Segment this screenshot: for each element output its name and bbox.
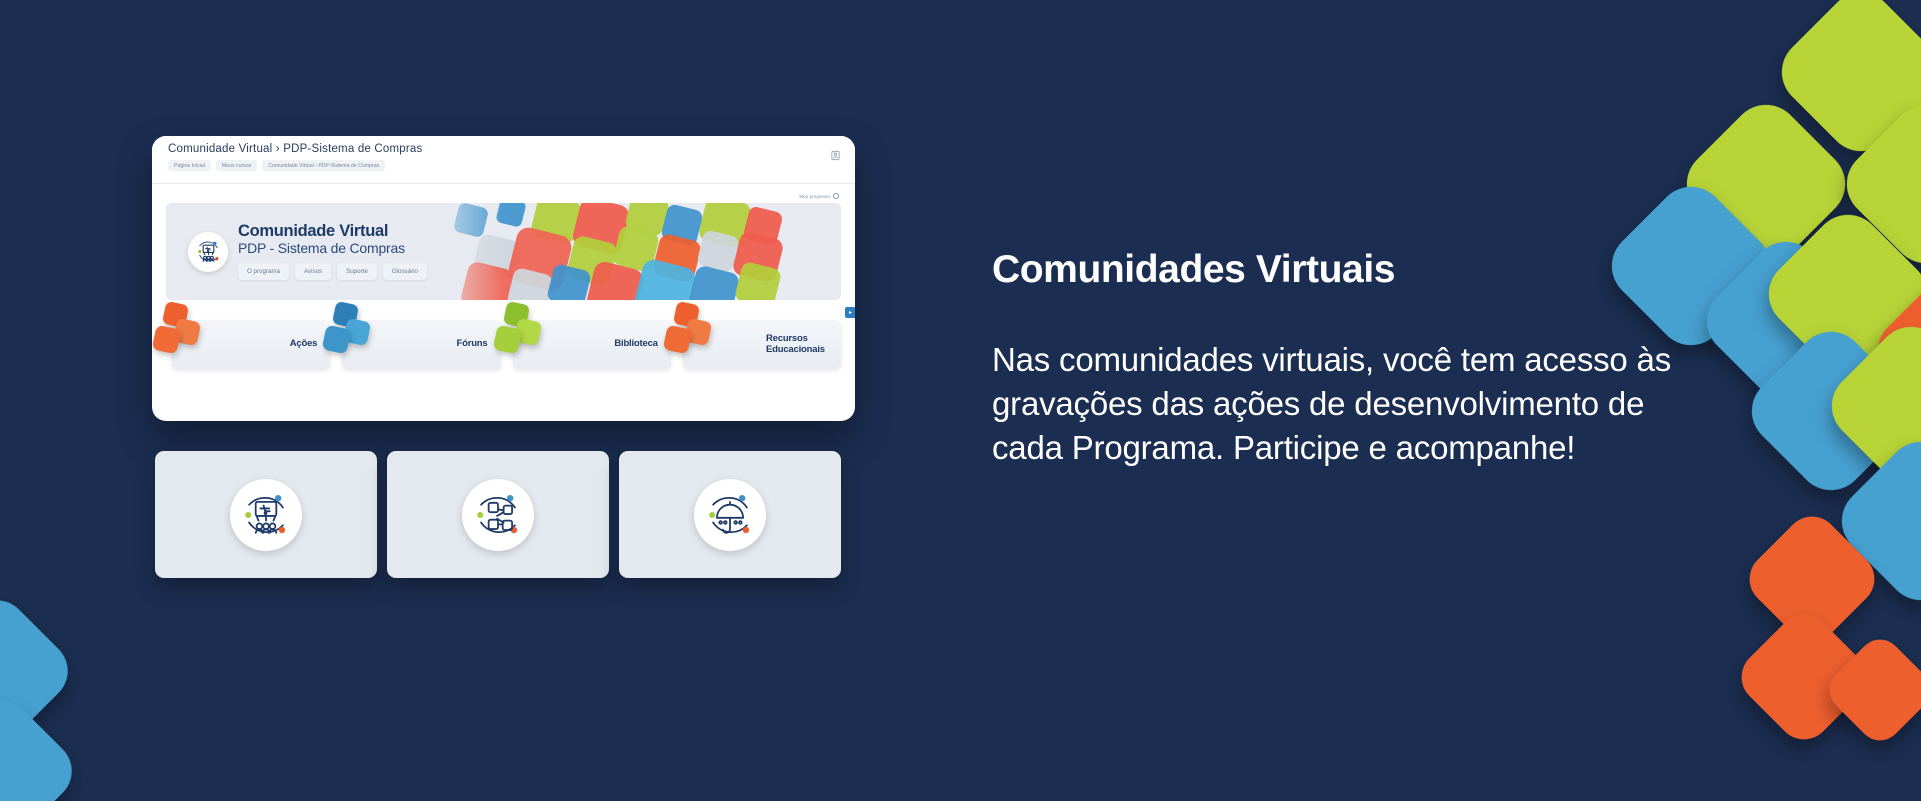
puzzle-orange-icon <box>664 303 718 365</box>
nav-card-biblioteca[interactable]: Biblioteca <box>513 320 671 369</box>
nav-card-label: Fóruns <box>457 339 488 349</box>
user-account-icon[interactable] <box>830 150 841 161</box>
nav-card-label: Ações <box>290 339 318 349</box>
community-cart-people-icon <box>188 232 228 272</box>
breadcrumb: Página Inicial Meus cursos Comunidade Vi… <box>168 160 839 171</box>
breadcrumb-item[interactable]: Página Inicial <box>168 160 211 171</box>
browser-content: Meu progresso <box>152 184 855 421</box>
deco-square-blue-left <box>0 588 80 755</box>
deco-square-orange <box>1738 505 1885 652</box>
puzzle-orange-icon <box>153 303 207 365</box>
panel-toggle-icon[interactable]: ▸ <box>845 307 855 318</box>
deco-square-blue <box>1693 228 1880 415</box>
deco-square-orange <box>1730 603 1877 750</box>
browser-topbar: Comunidade Virtual › PDP-Sistema de Comp… <box>152 136 855 184</box>
tab-suporte[interactable]: Suporte <box>337 263 377 280</box>
tab-glossario[interactable]: Glossário <box>383 263 427 280</box>
breadcrumb-item[interactable]: Meus cursos <box>216 160 257 171</box>
tab-avisos[interactable]: Avisos <box>295 263 331 280</box>
copy-body: Nas comunidades virtuais, você tem acess… <box>992 338 1692 470</box>
puzzle-green-icon <box>494 303 548 365</box>
page-title: Comunidade Virtual › PDP-Sistema de Comp… <box>168 143 839 155</box>
tab-o-programa[interactable]: O programa <box>238 263 289 280</box>
banner-tab-list: O programa Avisos Suporte Glossário <box>238 263 427 280</box>
network-nodes-circle-icon <box>462 479 534 551</box>
thumbnail-card-umbrella[interactable] <box>619 451 841 578</box>
deco-square-blue <box>1738 318 1921 505</box>
nav-card-acoes[interactable]: Ações <box>172 320 330 369</box>
banner-text: Comunidade Virtual PDP - Sistema de Comp… <box>238 223 427 281</box>
nav-card-label: Biblioteca <box>614 339 657 349</box>
cart-people-circle-icon <box>230 479 302 551</box>
banner-title: Comunidade Virtual <box>238 223 427 241</box>
banner-content: Comunidade Virtual PDP - Sistema de Comp… <box>166 223 427 281</box>
puzzle-blue-icon <box>323 303 377 365</box>
course-banner: Comunidade Virtual PDP - Sistema de Comp… <box>166 203 841 300</box>
progress-label: Meu progresso <box>799 194 830 199</box>
thumbnail-card-cart-people[interactable] <box>155 451 377 578</box>
breadcrumb-item[interactable]: Comunidade Virtual › PDP-Sistema de Comp… <box>262 160 385 171</box>
banner-mosaic-graphic <box>450 203 842 300</box>
thumbnail-card-list <box>155 451 841 578</box>
deco-square-green <box>1818 313 1921 500</box>
deco-square-blue <box>1828 428 1921 615</box>
deco-square-green <box>1673 91 1860 278</box>
thumbnail-card-network[interactable] <box>387 451 609 578</box>
deco-square-blue-left <box>0 688 84 801</box>
copy-heading: Comunidades Virtuais <box>992 248 1692 292</box>
browser-mockup: Comunidade Virtual › PDP-Sistema de Comp… <box>152 136 855 421</box>
deco-square-orange <box>1821 631 1921 750</box>
deco-square-orange <box>1865 265 1921 435</box>
nav-card-foruns[interactable]: Fóruns <box>342 320 500 369</box>
deco-square-green <box>1755 201 1921 388</box>
marketing-copy: Comunidades Virtuais Nas comunidades vir… <box>992 248 1692 470</box>
nav-card-label: Recursos Educacionais <box>766 334 828 355</box>
deco-square-green <box>1833 91 1921 278</box>
progress-circle-icon <box>833 193 839 199</box>
nav-card-recursos-educacionais[interactable]: Recursos Educacionais <box>683 320 841 369</box>
nav-card-list: Ações Fóruns Biblioteca Recursos Educaci… <box>166 320 841 369</box>
banner-subtitle: PDP - Sistema de Compras <box>238 240 427 256</box>
umbrella-circle-icon <box>694 479 766 551</box>
progress-indicator[interactable]: Meu progresso <box>166 193 839 199</box>
deco-square-green <box>1768 0 1921 165</box>
